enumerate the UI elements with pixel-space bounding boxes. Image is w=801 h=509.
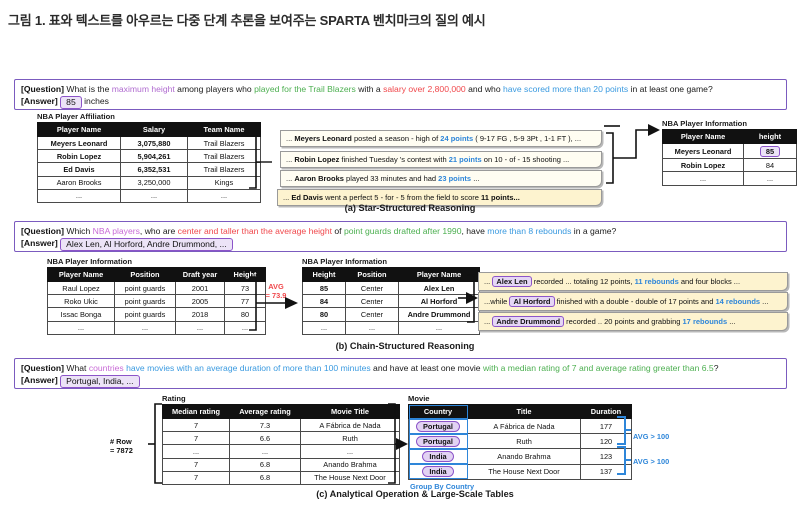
cell-height: 84 — [744, 159, 797, 172]
cell-height: 85 — [303, 282, 346, 295]
qa-part: and have at least one movie — [371, 363, 483, 373]
ev-part: finished Tuesday 's contest with — [339, 155, 448, 164]
cell-position: point guards — [115, 282, 176, 295]
table-player-info-a-title: NBA Player Information — [662, 119, 797, 128]
col-team-name: Team Name — [188, 123, 261, 137]
cell-height: 80 — [303, 308, 346, 321]
cell-duration: 177 — [581, 419, 632, 434]
ev-part: went a perfect 5 - for - 5 from the fiel… — [323, 193, 481, 202]
qa-part: What is the — [66, 84, 111, 94]
qa-part: What — [66, 363, 88, 373]
cell-ellipsis: ... — [38, 189, 121, 202]
question-label-c: [Question] — [21, 363, 64, 373]
ev-highlight: 11 points... — [481, 193, 520, 202]
avg-annotation: AVG = 73.9 — [258, 282, 294, 300]
table-player-info-b-mid-wrap: NBA Player Information Height Position P… — [302, 257, 480, 335]
avg-label: AVG — [268, 282, 283, 291]
qa-part: Which — [66, 226, 92, 236]
cell-salary: 3,075,880 — [121, 137, 188, 150]
qa-part: center and taller than the average heigh… — [178, 226, 332, 236]
qa-part: , who are — [140, 226, 178, 236]
col-player-name: Player Name — [38, 123, 121, 137]
cell-ellipsis: ... — [188, 189, 261, 202]
ev-entity-chip: Alex Len — [492, 276, 531, 287]
evidence-box: ... Robin Lopez finished Tuesday 's cont… — [280, 151, 602, 168]
cell-average-rating: 7.3 — [230, 419, 301, 432]
qa-part: NBA players — [93, 226, 140, 236]
cell-movie-title: A Fábrica de Nada — [301, 419, 400, 432]
table-row: 7 6.6 Ruth — [163, 432, 400, 445]
section-caption-a: (a) Star-Structured Reasoning — [260, 203, 560, 213]
ev-part: and four blocks ... — [679, 277, 740, 286]
col-average-rating: Average rating — [230, 405, 301, 419]
avg-annotation-2: AVG > 100 — [633, 457, 669, 466]
table-affiliation-title: NBA Player Affiliation — [37, 112, 261, 121]
cell-player: Raul Lopez — [48, 282, 115, 295]
col-height: Height — [225, 268, 266, 282]
cell-duration: 137 — [581, 464, 632, 479]
cell-median-rating: 7 — [163, 432, 230, 445]
answer-label-a: [Answer] — [21, 96, 58, 106]
table-player-info-a: Player Name height Meyers Leonard 85 Rob… — [662, 129, 797, 186]
ev-part: recorded ... totaling 12 points, — [532, 277, 635, 286]
ev-part: posted a season - high of — [352, 134, 440, 143]
table-row: Raul Lopez point guards 2001 73 — [48, 282, 266, 295]
qa-part: countries — [89, 363, 124, 373]
ev-part: ... — [727, 317, 735, 326]
country-chip: Portugal — [416, 436, 460, 447]
table-header-row: Country Title Duration — [409, 405, 632, 419]
ev-part: on 10 - of - 15 shooting ... — [482, 155, 570, 164]
cell-player: Roko Ukic — [48, 295, 115, 308]
col-salary: Salary — [121, 123, 188, 137]
cell-player: Ed Davis — [38, 163, 121, 176]
cell-position: point guards — [115, 295, 176, 308]
table-row: 84 Center Al Horford — [303, 295, 480, 308]
table-row: Robin Lopez 5,904,261 Trail Blazers — [38, 150, 261, 163]
cell-team: Trail Blazers — [188, 137, 261, 150]
bracket-evidence — [606, 133, 613, 183]
answer-line-b: [Answer] Alex Len, Al Horford, Andre Dru… — [21, 237, 780, 251]
cell-draft-year: 2005 — [176, 295, 225, 308]
cell-ellipsis: ... — [121, 189, 188, 202]
country-chip: India — [422, 466, 453, 477]
evidence-box: ... Alex Len recorded ... totaling 12 po… — [478, 272, 788, 291]
cell-ellipsis: ... — [48, 321, 115, 334]
cell-position: Center — [346, 308, 399, 321]
qa-part: and who — [466, 84, 503, 94]
table-player-info-b-left: Player Name Position Draft year Height R… — [47, 267, 266, 335]
cell-title: Ruth — [468, 434, 581, 449]
cell-ellipsis: ... — [303, 321, 346, 334]
cell-player: Robin Lopez — [663, 159, 744, 172]
table-row: Issac Bonga point guards 2018 80 — [48, 308, 266, 321]
cell-ellipsis: ... — [399, 321, 480, 334]
ev-highlight: 23 points — [438, 174, 471, 183]
avg-value: = 73.9 — [266, 291, 287, 300]
table-row: Portugal A Fábrica de Nada 177 — [409, 419, 632, 434]
table-row: Ed Davis 6,352,531 Trail Blazers — [38, 163, 261, 176]
col-player-name: Player Name — [399, 268, 480, 282]
question-line-b: [Question] Which NBA players, who are ce… — [21, 225, 780, 237]
table-header-row: Height Position Player Name — [303, 268, 480, 282]
table-row: Meyers Leonard 3,075,880 Trail Blazers — [38, 137, 261, 150]
col-duration: Duration — [581, 405, 632, 419]
question-label-a: [Question] — [21, 84, 64, 94]
table-row: Robin Lopez 84 — [663, 159, 797, 172]
ev-entity-chip: Al Horford — [509, 296, 554, 307]
table-row: ... ... ... — [303, 321, 480, 334]
cell-duration: 123 — [581, 449, 632, 464]
qa-part: of — [332, 226, 344, 236]
col-title: Title — [468, 405, 581, 419]
cell-title: A Fábrica de Nada — [468, 419, 581, 434]
answer-chip-c: Portugal, India, ... — [60, 375, 139, 388]
table-player-info-b-mid: Height Position Player Name 85 Center Al… — [302, 267, 480, 335]
ev-part: ... — [484, 317, 492, 326]
qa-part: among players who — [175, 84, 254, 94]
ev-part: ... — [484, 277, 492, 286]
cell-median-rating: 7 — [163, 458, 230, 471]
qa-part: more than 8 rebounds — [487, 226, 571, 236]
answer-suffix-a: inches — [84, 96, 109, 106]
table-row: ... ... — [663, 172, 797, 185]
ev-part: finished with a double - double of 17 po… — [555, 297, 716, 306]
cell-position: point guards — [115, 308, 176, 321]
table-movie: Country Title Duration Portugal A Fábric… — [408, 404, 632, 480]
table-header-row: Player Name Position Draft year Height — [48, 268, 266, 282]
link-evidence-playerinfo — [613, 130, 648, 158]
table-row: 7 6.8 The House Next Door — [163, 471, 400, 484]
evidence-box: ... Andre Drummond recorded .. 20 points… — [478, 312, 788, 331]
cell-title: Anando Brahma — [468, 449, 581, 464]
answer-line-a: [Answer] 85 inches — [21, 95, 780, 109]
answer-label-c: [Answer] — [21, 375, 58, 385]
cell-salary: 5,904,261 — [121, 150, 188, 163]
table-affiliation: Player Name Salary Team Name Meyers Leon… — [37, 122, 261, 203]
table-movie-title: Movie — [408, 394, 632, 403]
ev-entity: Meyers Leonard — [294, 134, 352, 143]
table-row: 80 Center Andre Drummond — [303, 308, 480, 321]
arrow-head-a1 — [648, 124, 660, 136]
qa-box-c: [Question] What countries have movies wi… — [14, 358, 787, 389]
cell-ellipsis: ... — [301, 445, 400, 458]
qa-part: in a game? — [571, 226, 616, 236]
qa-part: have scored more than 20 points — [503, 84, 628, 94]
col-position: Position — [346, 268, 399, 282]
figure-title: 그림 1. 표와 텍스트를 아우르는 다중 단계 추론을 보여주는 SPARTA… — [8, 10, 486, 29]
table-row: Meyers Leonard 85 — [663, 144, 797, 159]
section-caption-b: (b) Chain-Structured Reasoning — [255, 341, 555, 351]
table-rating-title: Rating — [162, 394, 400, 403]
cell-ellipsis: ... — [163, 445, 230, 458]
cell-country: India — [409, 464, 468, 479]
col-player-name: Player Name — [663, 130, 744, 144]
ev-highlight: 14 rebounds — [715, 297, 760, 306]
qa-part: point guards drafted after 1990 — [344, 226, 462, 236]
question-line-c: [Question] What countries have movies wi… — [21, 362, 780, 374]
cell-duration: 120 — [581, 434, 632, 449]
table-rating: Median rating Average rating Movie Title… — [162, 404, 400, 485]
table-row: Portugal Ruth 120 — [409, 434, 632, 449]
cell-position: Center — [346, 282, 399, 295]
table-player-info-b-mid-title: NBA Player Information — [302, 257, 480, 266]
cell-ellipsis: ... — [663, 172, 744, 185]
table-row: 7 7.3 A Fábrica de Nada — [163, 419, 400, 432]
highlight-chip: 85 — [760, 146, 780, 157]
ev-part: recorded .. 20 points and grabbing — [564, 317, 682, 326]
ev-highlight: 21 points — [449, 155, 482, 164]
cell-average-rating: 6.8 — [230, 471, 301, 484]
row-count-label: # Row — [110, 437, 132, 446]
cell-average-rating: 6.6 — [230, 432, 301, 445]
qa-part: , have — [461, 226, 487, 236]
cell-position: Center — [346, 295, 399, 308]
cell-median-rating: 7 — [163, 419, 230, 432]
cell-team: Kings — [188, 176, 261, 189]
ev-highlight: 17 rebounds — [683, 317, 728, 326]
cell-salary: 6,352,531 — [121, 163, 188, 176]
ev-highlight: 11 rebounds — [635, 277, 679, 286]
table-header-row: Player Name Salary Team Name — [38, 123, 261, 137]
cell-salary: 3,250,000 — [121, 176, 188, 189]
cell-country: India — [409, 449, 468, 464]
evidence-box: ... Meyers Leonard posted a season - hig… — [280, 130, 602, 147]
country-chip: Portugal — [416, 421, 460, 432]
cell-height-highlighted: 85 — [744, 144, 797, 159]
cell-ellipsis: ... — [230, 445, 301, 458]
cell-draft-year: 2001 — [176, 282, 225, 295]
cell-player: Robin Lopez — [38, 150, 121, 163]
qa-part: with a — [356, 84, 383, 94]
qa-box-a: [Question] What is the maximum height am… — [14, 79, 787, 110]
col-position: Position — [115, 268, 176, 282]
table-row: ... ... ... — [38, 189, 261, 202]
answer-line-c: [Answer] Portugal, India, ... — [21, 374, 780, 388]
question-line-a: [Question] What is the maximum height am… — [21, 83, 780, 95]
col-height: Height — [303, 268, 346, 282]
section-caption-c: (c) Analytical Operation & Large-Scale T… — [245, 489, 585, 499]
table-row: India Anando Brahma 123 — [409, 449, 632, 464]
table-row: Roko Ukic point guards 2005 77 — [48, 295, 266, 308]
table-row: ... ... ... ... — [48, 321, 266, 334]
row-count-value: = 7872 — [110, 446, 133, 455]
cell-ellipsis: ... — [176, 321, 225, 334]
qa-part: maximum height — [112, 84, 175, 94]
table-header-row: Median rating Average rating Movie Title — [163, 405, 400, 419]
cell-player: Alex Len — [399, 282, 480, 295]
cell-team: Trail Blazers — [188, 163, 261, 176]
cell-draft-year: 2018 — [176, 308, 225, 321]
ev-part: ... — [760, 297, 768, 306]
table-player-info-b-left-title: NBA Player Information — [47, 257, 266, 266]
cell-player: Al Horford — [399, 295, 480, 308]
cell-country: Portugal — [409, 434, 468, 449]
ev-entity: Robin Lopez — [294, 155, 339, 164]
cell-ellipsis: ... — [225, 321, 266, 334]
cell-average-rating: 6.8 — [230, 458, 301, 471]
answer-chip-a: 85 — [60, 96, 82, 109]
cell-title: The House Next Door — [468, 464, 581, 479]
evidence-box: ...while Al Horford finished with a doub… — [478, 292, 788, 311]
col-median-rating: Median rating — [163, 405, 230, 419]
col-movie-title: Movie Title — [301, 405, 400, 419]
row-count-annotation: # Row = 7872 — [110, 437, 154, 455]
ev-part: ( 9-17 FG , 5-9 3Pt , 1-1 FT ), ... — [473, 134, 581, 143]
question-label-b: [Question] — [21, 226, 64, 236]
cell-movie-title: Ruth — [301, 432, 400, 445]
cell-team: Trail Blazers — [188, 150, 261, 163]
table-row: 85 Center Alex Len — [303, 282, 480, 295]
cell-player: Aaron Brooks — [38, 176, 121, 189]
ev-entity: Aaron Brooks — [294, 174, 344, 183]
qa-part: played for the Trail Blazers — [254, 84, 356, 94]
ev-part: ... — [471, 174, 479, 183]
cell-height: 84 — [303, 295, 346, 308]
table-player-info-a-wrap: NBA Player Information Player Name heigh… — [662, 119, 797, 186]
cell-ellipsis: ... — [346, 321, 399, 334]
table-player-info-b-left-wrap: NBA Player Information Player Name Posit… — [47, 257, 266, 335]
qa-box-b: [Question] Which NBA players, who are ce… — [14, 221, 787, 252]
col-country: Country — [409, 405, 468, 419]
col-player-name: Player Name — [48, 268, 115, 282]
cell-movie-title: Anando Brahma — [301, 458, 400, 471]
answer-label-b: [Answer] — [21, 238, 58, 248]
cell-ellipsis: ... — [115, 321, 176, 334]
ev-highlight: 24 points — [440, 134, 473, 143]
answer-chip-b: Alex Len, Al Horford, Andre Drummond, ..… — [60, 238, 233, 251]
country-chip: India — [422, 451, 453, 462]
avg-annotation-1: AVG > 100 — [633, 432, 669, 441]
ev-entity: Ed Davis — [291, 193, 323, 202]
qa-part: with a median rating of 7 and average ra… — [483, 363, 714, 373]
cell-player: Issac Bonga — [48, 308, 115, 321]
ev-part: ...while — [484, 297, 509, 306]
ev-part: played 33 minutes and had — [344, 174, 438, 183]
cell-player: Meyers Leonard — [663, 144, 744, 159]
table-movie-wrap: Movie Country Title Duration Portugal A … — [408, 394, 632, 489]
cell-country: Portugal — [409, 419, 468, 434]
col-draft-year: Draft year — [176, 268, 225, 282]
table-row: ... ... ... — [163, 445, 400, 458]
cell-movie-title: The House Next Door — [301, 471, 400, 484]
table-rating-wrap: Rating Median rating Average rating Movi… — [162, 394, 400, 485]
table-row: Aaron Brooks 3,250,000 Kings — [38, 176, 261, 189]
cell-player: Andre Drummond — [399, 308, 480, 321]
table-header-row: Player Name height — [663, 130, 797, 144]
qa-part: have movies with an average duration of … — [124, 363, 371, 373]
table-affiliation-wrap: NBA Player Affiliation Player Name Salar… — [37, 112, 261, 203]
qa-part: in at least one game? — [628, 84, 713, 94]
cell-ellipsis: ... — [744, 172, 797, 185]
cell-player: Meyers Leonard — [38, 137, 121, 150]
cell-median-rating: 7 — [163, 471, 230, 484]
qa-part: ? — [714, 363, 719, 373]
table-row: 7 6.8 Anando Brahma — [163, 458, 400, 471]
table-row: India The House Next Door 137 — [409, 464, 632, 479]
connector-layer — [0, 0, 801, 509]
ev-entity-chip: Andre Drummond — [492, 316, 564, 327]
col-height: height — [744, 130, 797, 144]
qa-part: salary over 2,800,000 — [383, 84, 466, 94]
evidence-box: ... Aaron Brooks played 33 minutes and h… — [280, 170, 602, 187]
cell-height: 80 — [225, 308, 266, 321]
